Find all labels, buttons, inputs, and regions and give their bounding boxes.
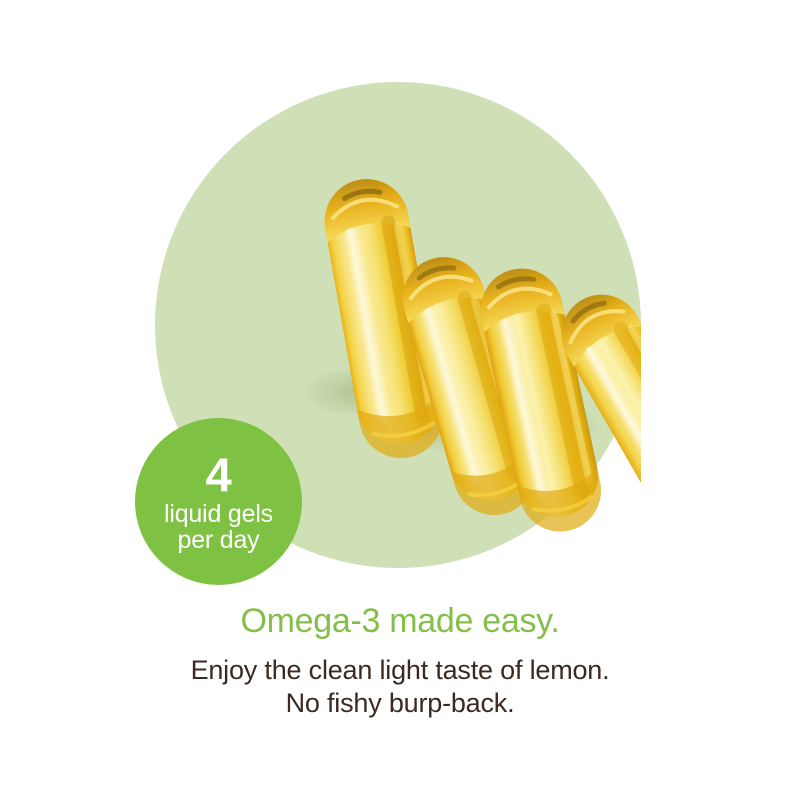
subheadline: Enjoy the clean light taste of lemon. No…	[0, 654, 800, 720]
subheadline-line-2: No fishy burp-back.	[0, 687, 800, 720]
dosage-badge: 4 liquid gels per day	[135, 418, 302, 585]
badge-number: 4	[206, 450, 232, 499]
badge-line-1: liquid gels	[164, 501, 273, 527]
headline: Omega-3 made easy.	[0, 603, 800, 640]
promo-canvas: 4 liquid gels per day Omega-3 made easy.…	[0, 0, 800, 800]
badge-line-2: per day	[178, 527, 260, 553]
subheadline-line-1: Enjoy the clean light taste of lemon.	[0, 654, 800, 687]
caption-block: Omega-3 made easy. Enjoy the clean light…	[0, 603, 800, 720]
